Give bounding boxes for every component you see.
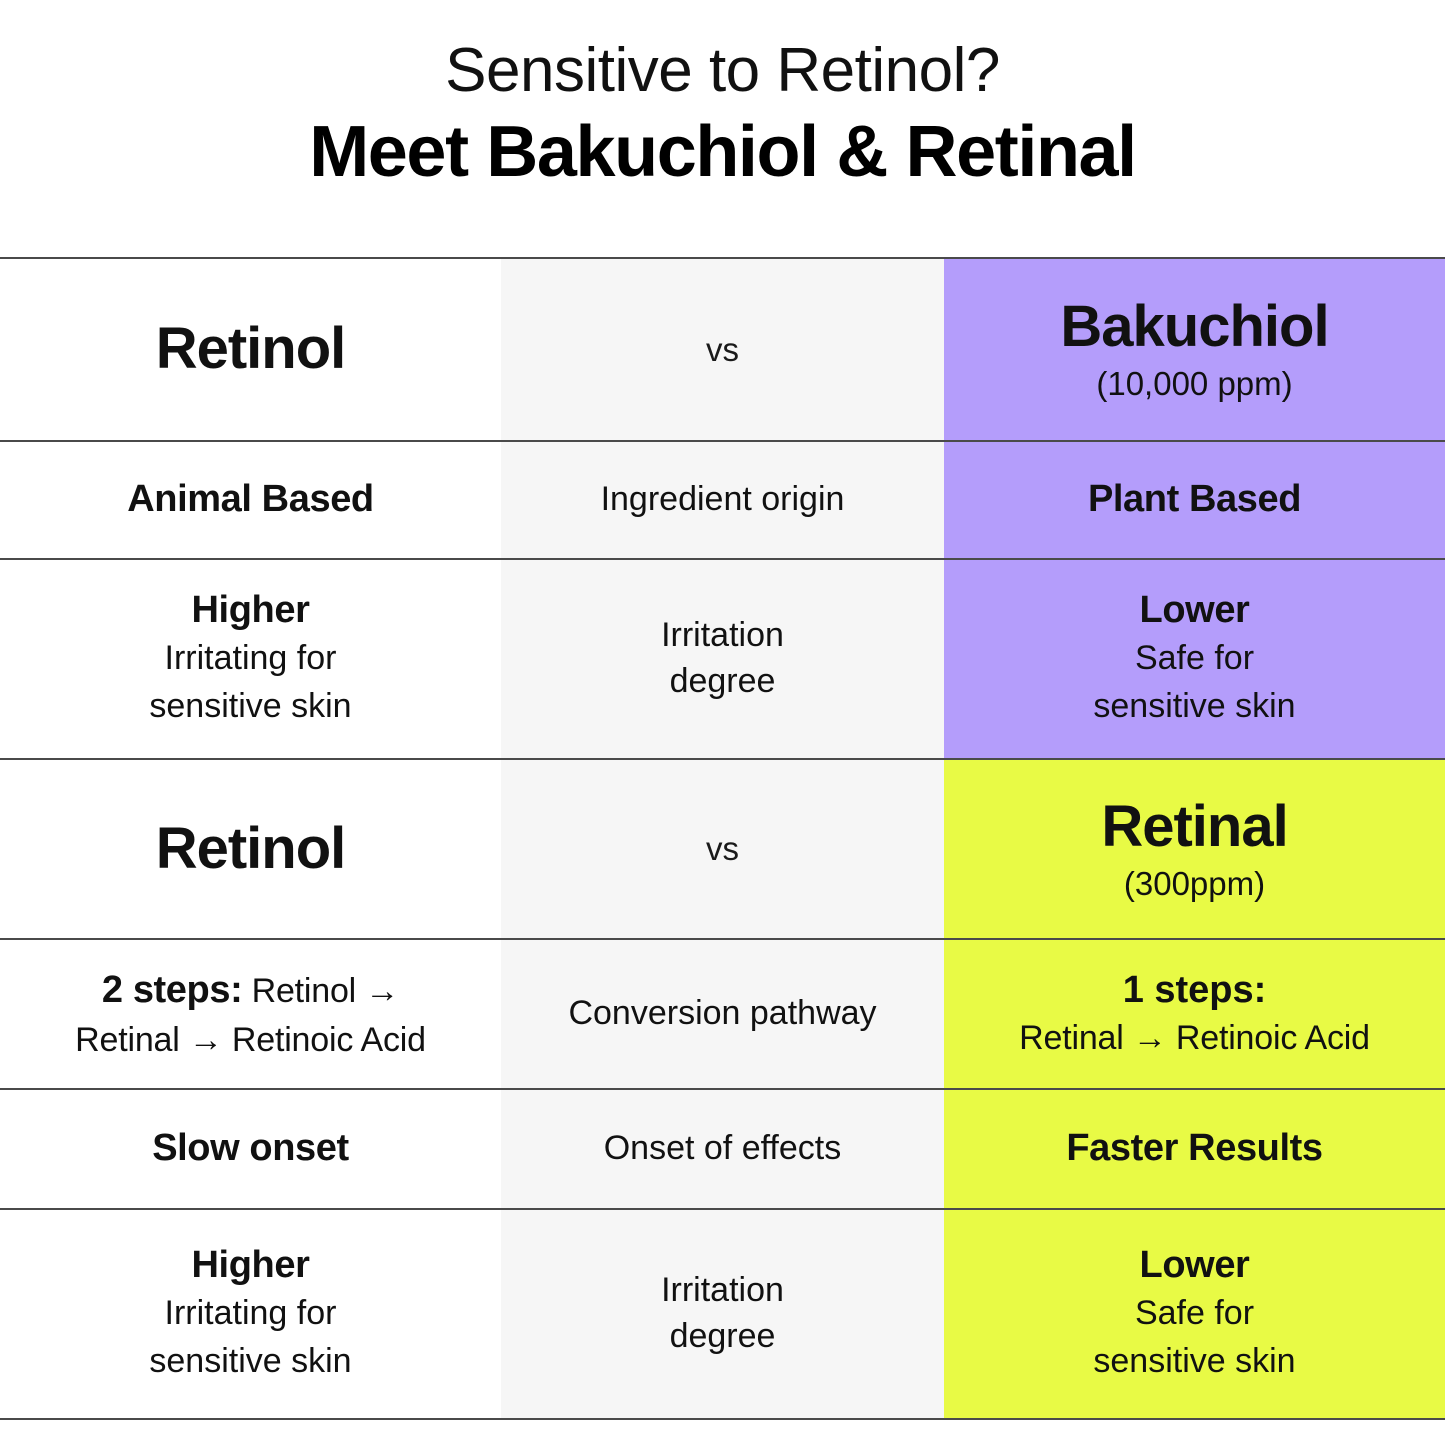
cell-attribute-pathway: Conversion pathway <box>501 940 944 1088</box>
cell-retinal-onset: Faster Results <box>944 1090 1445 1208</box>
table-row: Retinol vs Bakuchiol (10,000 ppm) <box>0 259 1445 442</box>
retinol-irritation-detail-2b: sensitive skin <box>149 1337 351 1385</box>
attribute-label-irritation-1b: degree <box>670 659 776 705</box>
retinol-title-2: Retinol <box>156 817 346 882</box>
retinal-irritation-detail-a: Safe for <box>1135 1289 1254 1337</box>
retinal-concentration: (300ppm) <box>1124 864 1265 904</box>
table-row: Higher Irritating for sensitive skin Irr… <box>0 1210 1445 1420</box>
bakuchiol-irritation-value: Lower <box>1140 588 1250 634</box>
vs-label-2: vs <box>706 830 739 868</box>
cell-bakuchiol-irritation: Lower Safe for sensitive skin <box>944 560 1445 758</box>
retinol-title-1: Retinol <box>156 317 346 382</box>
page-title: Meet Bakuchiol & Retinal <box>309 113 1136 192</box>
attribute-label-irritation-2b: degree <box>670 1314 776 1360</box>
retinol-irritation-value-1: Higher <box>192 588 310 634</box>
retinol-irritation-detail-1a: Irritating for <box>165 634 337 682</box>
bakuchiol-irritation-detail-b: sensitive skin <box>1093 682 1295 730</box>
retinal-irritation-value: Lower <box>1140 1243 1250 1289</box>
cell-retinol-irritation-1: Higher Irritating for sensitive skin <box>0 560 501 758</box>
attribute-label-pathway: Conversion pathway <box>568 991 876 1037</box>
retinol-pathway-text-a: Retinol → <box>252 972 399 1010</box>
comparison-infographic: Sensitive to Retinol? Meet Bakuchiol & R… <box>0 0 1445 1445</box>
cell-retinol-irritation-2: Higher Irritating for sensitive skin <box>0 1210 501 1418</box>
page-subtitle: Sensitive to Retinol? <box>445 38 1000 105</box>
cell-retinol-origin: Animal Based <box>0 442 501 558</box>
cell-attribute-irritation-2: Irritation degree <box>501 1210 944 1418</box>
page-header: Sensitive to Retinol? Meet Bakuchiol & R… <box>0 0 1445 257</box>
cell-bakuchiol-origin: Plant Based <box>944 442 1445 558</box>
retinal-onset-value: Faster Results <box>1066 1126 1322 1172</box>
retinol-origin-value: Animal Based <box>127 477 374 523</box>
comparison-table: Retinol vs Bakuchiol (10,000 ppm) Animal… <box>0 257 1445 1420</box>
retinal-title: Retinal <box>1101 795 1287 860</box>
cell-attribute-irritation-1: Irritation degree <box>501 560 944 758</box>
table-row: Animal Based Ingredient origin Plant Bas… <box>0 442 1445 560</box>
retinol-irritation-detail-1b: sensitive skin <box>149 682 351 730</box>
attribute-label-irritation-2a: Irritation <box>661 1268 784 1314</box>
cell-retinol-onset: Slow onset <box>0 1090 501 1208</box>
cell-retinol-pathway: 2 steps: Retinol → Retinal → Retinoic Ac… <box>0 940 501 1088</box>
vs-label-1: vs <box>706 331 739 369</box>
table-row: Higher Irritating for sensitive skin Irr… <box>0 560 1445 760</box>
cell-retinal-hero: Retinal (300ppm) <box>944 760 1445 938</box>
retinal-pathway-text: Retinal → Retinoic Acid <box>1019 1015 1370 1062</box>
bakuchiol-irritation-detail-a: Safe for <box>1135 634 1254 682</box>
bakuchiol-title: Bakuchiol <box>1060 295 1328 360</box>
bakuchiol-origin-value: Plant Based <box>1088 477 1301 523</box>
table-row: 2 steps: Retinol → Retinal → Retinoic Ac… <box>0 940 1445 1090</box>
attribute-label-irritation-1a: Irritation <box>661 613 784 659</box>
retinol-pathway-steps: 2 steps: <box>102 969 242 1011</box>
cell-vs-1: vs <box>501 259 944 440</box>
retinol-irritation-value-2: Higher <box>192 1243 310 1289</box>
attribute-label-onset: Onset of effects <box>604 1126 842 1172</box>
attribute-label-origin: Ingredient origin <box>601 477 845 523</box>
retinal-pathway-steps: 1 steps: <box>1123 966 1267 1015</box>
cell-retinol-hero-2: Retinol <box>0 760 501 938</box>
table-row: Retinol vs Retinal (300ppm) <box>0 760 1445 940</box>
cell-retinal-irritation: Lower Safe for sensitive skin <box>944 1210 1445 1418</box>
cell-attribute-onset: Onset of effects <box>501 1090 944 1208</box>
retinol-irritation-detail-2a: Irritating for <box>165 1289 337 1337</box>
table-row: Slow onset Onset of effects Faster Resul… <box>0 1090 1445 1210</box>
cell-attribute-origin: Ingredient origin <box>501 442 944 558</box>
retinol-pathway-line1: 2 steps: Retinol → <box>102 964 399 1016</box>
cell-bakuchiol-hero: Bakuchiol (10,000 ppm) <box>944 259 1445 440</box>
cell-retinol-hero-1: Retinol <box>0 259 501 440</box>
retinol-pathway-text-b: Retinal → Retinoic Acid <box>75 1017 426 1064</box>
bakuchiol-concentration: (10,000 ppm) <box>1096 364 1292 404</box>
cell-retinal-pathway: 1 steps: Retinal → Retinoic Acid <box>944 940 1445 1088</box>
retinol-onset-value: Slow onset <box>152 1126 349 1172</box>
retinal-irritation-detail-b: sensitive skin <box>1093 1337 1295 1385</box>
cell-vs-2: vs <box>501 760 944 938</box>
